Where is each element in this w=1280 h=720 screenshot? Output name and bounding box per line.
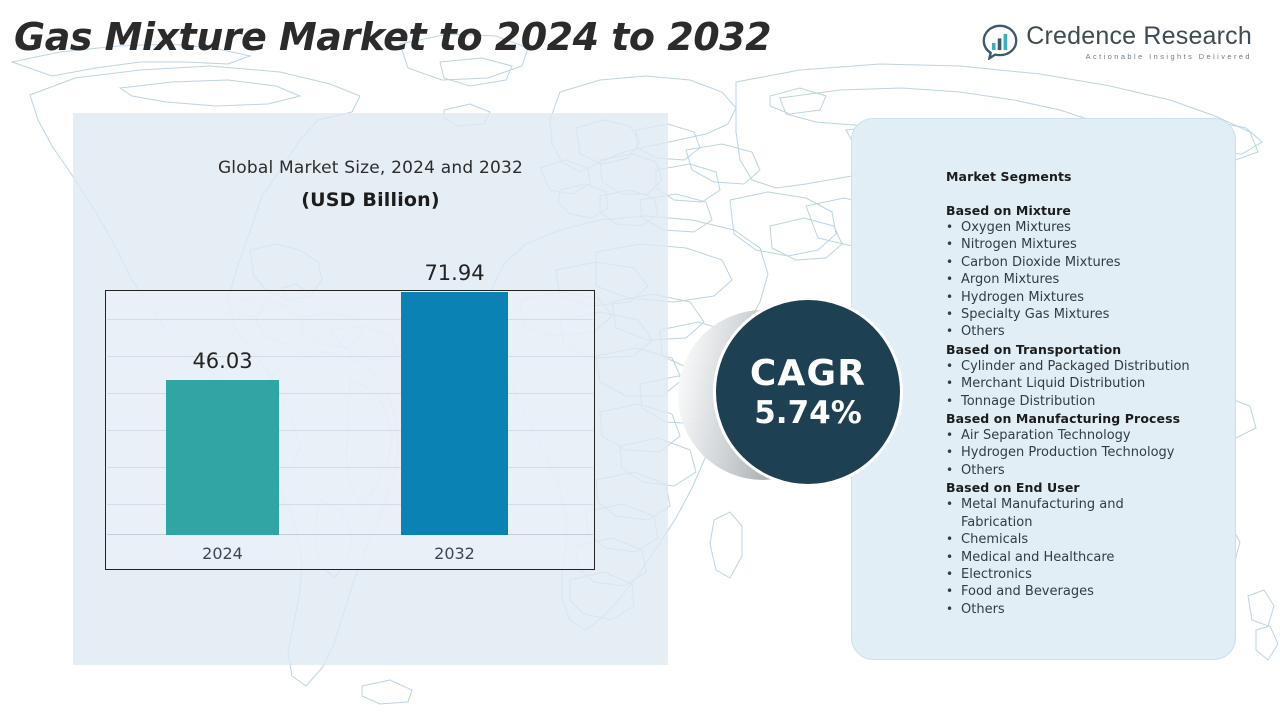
bullet-icon: • <box>946 566 961 583</box>
segment-item-label: Hydrogen Mixtures <box>961 289 1246 306</box>
bar-label-2032: 2032 <box>391 544 518 563</box>
brand-name: Credence Research <box>1026 24 1252 50</box>
segments-title: Market Segments <box>946 169 1246 184</box>
infographic-canvas: Gas Mixture Market to 2024 to 2032 Crede… <box>0 0 1280 720</box>
segment-item-label: Others <box>961 601 1246 618</box>
segment-item[interactable]: •Hydrogen Mixtures <box>946 289 1246 306</box>
chart-heading-line2: (USD Billion) <box>73 189 668 211</box>
segment-item-label: Tonnage Distribution <box>961 393 1246 410</box>
segment-item-label: Medical and Healthcare <box>961 549 1246 566</box>
segment-item-label: Others <box>961 323 1246 340</box>
bar-2032 <box>401 292 508 535</box>
segment-item[interactable]: •Others <box>946 601 1246 618</box>
segment-item-label: Carbon Dioxide Mixtures <box>961 254 1246 271</box>
segment-item[interactable]: •Argon Mixtures <box>946 271 1246 288</box>
segment-item[interactable]: •Chemicals <box>946 531 1246 548</box>
segment-item[interactable]: •Cylinder and Packaged Distribution <box>946 358 1246 375</box>
bullet-icon: • <box>946 583 961 600</box>
segment-item[interactable]: •Specialty Gas Mixtures <box>946 306 1246 323</box>
segment-group-heading: Based on End User <box>946 480 1246 495</box>
page-title: Gas Mixture Market to 2024 to 2032 <box>14 15 771 59</box>
segment-item[interactable]: •Carbon Dioxide Mixtures <box>946 254 1246 271</box>
segment-item-label: Nitrogen Mixtures <box>961 236 1246 253</box>
bar-chart-bubble-icon <box>982 24 1018 60</box>
bar-chart: 46.03 71.94 2024 2032 <box>105 290 595 570</box>
cagr-badge: CAGR 5.74% <box>678 297 903 492</box>
brand-tagline: Actionable Insights Delivered <box>1026 52 1252 61</box>
brand-logo[interactable]: Credence Research Actionable Insights De… <box>982 24 1252 61</box>
bullet-icon: • <box>946 601 961 618</box>
segment-item-label: Merchant Liquid Distribution <box>961 375 1246 392</box>
brand-text: Credence Research Actionable Insights De… <box>1026 24 1252 61</box>
bullet-icon: • <box>946 393 961 410</box>
chart-heading-line1: Global Market Size, 2024 and 2032 <box>73 158 668 178</box>
segment-item[interactable]: •Others <box>946 462 1246 479</box>
segment-item-label: Air Separation Technology <box>961 427 1246 444</box>
bullet-icon: • <box>946 219 961 236</box>
segment-item[interactable]: •Tonnage Distribution <box>946 393 1246 410</box>
segment-item-label: Electronics <box>961 566 1246 583</box>
bullet-icon: • <box>946 306 961 323</box>
segment-item-label: Others <box>961 462 1246 479</box>
segment-item[interactable]: •Others <box>946 323 1246 340</box>
bullet-icon: • <box>946 427 961 444</box>
segment-item[interactable]: •Air Separation Technology <box>946 427 1246 444</box>
segment-group-heading: Based on Manufacturing Process <box>946 411 1246 426</box>
chart-heading: Global Market Size, 2024 and 2032 (USD B… <box>73 158 668 211</box>
segment-item-label: Chemicals <box>961 531 1246 548</box>
bullet-icon: • <box>946 444 961 461</box>
segment-item-label: Specialty Gas Mixtures <box>961 306 1246 323</box>
bullet-icon: • <box>946 549 961 566</box>
bullet-icon: • <box>946 254 961 271</box>
segment-item-label: Metal Manufacturing and Fabrication <box>961 496 1176 531</box>
segment-item-label: Food and Beverages <box>961 583 1246 600</box>
cagr-value: 5.74% <box>754 398 862 429</box>
segment-item-label: Hydrogen Production Technology <box>961 444 1246 461</box>
segment-item[interactable]: •Hydrogen Production Technology <box>946 444 1246 461</box>
bar-label-2024: 2024 <box>156 544 289 563</box>
bar-value-2032: 71.94 <box>391 261 518 285</box>
cagr-circle: CAGR 5.74% <box>713 297 903 487</box>
segment-group-heading: Based on Transportation <box>946 342 1246 357</box>
bullet-icon: • <box>946 323 961 340</box>
segment-item-label: Argon Mixtures <box>961 271 1246 288</box>
segment-item[interactable]: •Merchant Liquid Distribution <box>946 375 1246 392</box>
segment-item[interactable]: •Medical and Healthcare <box>946 549 1246 566</box>
bar-value-2024: 46.03 <box>156 349 289 373</box>
bullet-icon: • <box>946 531 961 548</box>
bullet-icon: • <box>946 271 961 288</box>
market-segments-list: Market Segments Based on Mixture •Oxygen… <box>946 169 1246 618</box>
segment-item-label: Oxygen Mixtures <box>961 219 1246 236</box>
segment-item[interactable]: •Food and Beverages <box>946 583 1246 600</box>
segment-item[interactable]: •Metal Manufacturing and Fabrication <box>946 496 1246 531</box>
bullet-icon: • <box>946 358 961 375</box>
segment-item[interactable]: •Electronics <box>946 566 1246 583</box>
cagr-label: CAGR <box>750 356 866 392</box>
gridline <box>107 319 593 320</box>
bullet-icon: • <box>946 496 961 513</box>
segment-item[interactable]: •Nitrogen Mixtures <box>946 236 1246 253</box>
bullet-icon: • <box>946 375 961 392</box>
segment-item[interactable]: •Oxygen Mixtures <box>946 219 1246 236</box>
segment-item-label: Cylinder and Packaged Distribution <box>961 358 1246 375</box>
bullet-icon: • <box>946 289 961 306</box>
bullet-icon: • <box>946 236 961 253</box>
bullet-icon: • <box>946 462 961 479</box>
bar-2024 <box>166 380 279 535</box>
segment-group-heading: Based on Mixture <box>946 203 1246 218</box>
